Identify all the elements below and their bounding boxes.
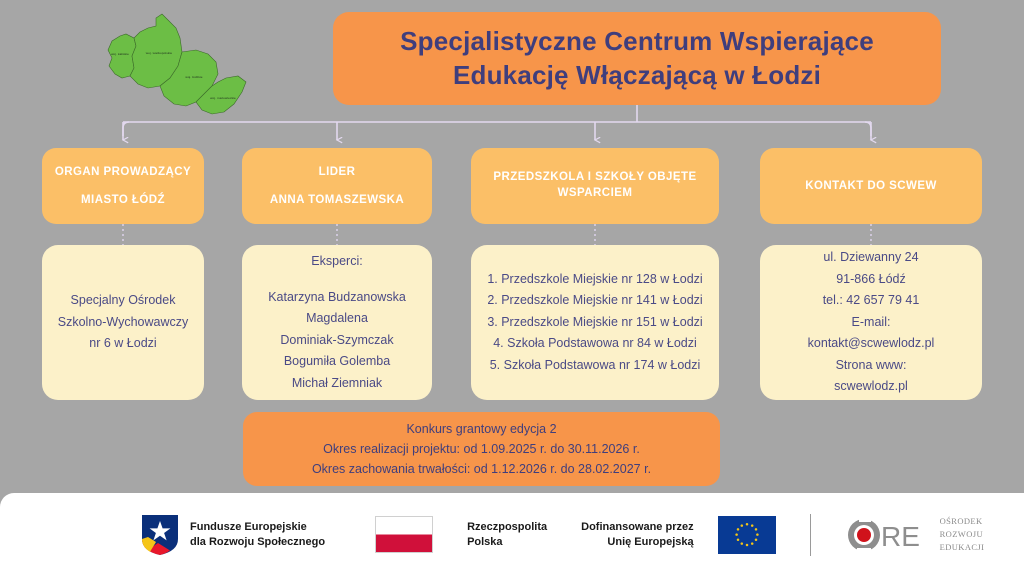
card-3-item-0: 1. Przedszkole Miejskie nr 128 w Łodzi — [487, 269, 702, 291]
ore-subtitle-text: Ośrodek Rozwoju Edukacji — [940, 515, 985, 553]
card-eksperci: Eksperci: Katarzyna Budzanowska Magdalen… — [242, 245, 432, 400]
card-2-line-1: Magdalena — [306, 308, 368, 330]
ore-mark-icon: RE — [845, 515, 929, 555]
header-organ-prowadzacy[interactable]: ORGAN PROWADZĄCY MIASTO ŁÓDŹ — [42, 148, 204, 224]
contact-website-value[interactable]: scwewlodz.pl — [834, 376, 908, 398]
card-2-line-4: Michał Ziemniak — [292, 373, 382, 395]
fe-line-1: Fundusze Europejskie — [190, 520, 325, 535]
page-title: Specjalistyczne Centrum Wspierające Eduk… — [333, 12, 941, 105]
infographic-root: woj. kaliskie woj. wielkopolskie woj. łó… — [0, 0, 1024, 576]
cof-line-2: Unię Europejską — [581, 535, 693, 550]
page-title-line-1: Specjalistyczne Centrum Wspierające — [400, 26, 874, 56]
contact-street: ul. Dziewanny 24 — [823, 247, 918, 269]
contact-email-label: E-mail: — [852, 312, 891, 334]
ore-line-3: Edukacji — [940, 541, 985, 554]
footer-divider — [810, 514, 811, 556]
card-2-line-3: Bogumiła Golemba — [284, 351, 390, 373]
grant-project-period: Okres realizacji projektu: od 1.09.2025 … — [323, 439, 640, 459]
card-organ-prowadzacy: Specjalny Ośrodek Szkolno-Wychowawczy nr… — [42, 245, 204, 400]
card-szkoly-lista: 1. Przedszkole Miejskie nr 128 w Łodzi 2… — [471, 245, 719, 400]
card-3-item-1: 2. Przedszkole Miejskie nr 141 w Łodzi — [487, 290, 702, 312]
card-3-item-3: 4. Szkoła Podstawowa nr 84 w Łodzi — [493, 333, 697, 355]
contact-website-label: Strona www: — [836, 355, 907, 377]
grant-sustainability-period: Okres zachowania trwałości: od 1.12.2026… — [312, 459, 651, 479]
contact-email-value[interactable]: kontakt@scwewlodz.pl — [808, 333, 935, 355]
header-1-line-2: MIASTO ŁÓDŹ — [81, 192, 165, 209]
card-2-line-2: Dominiak-Szymczak — [280, 330, 393, 352]
card-1-line-0: Specjalny Ośrodek — [71, 290, 176, 312]
svg-text:RE: RE — [881, 521, 920, 552]
rp-line-2: Polska — [467, 535, 547, 550]
contact-phone: tel.: 42 657 79 41 — [823, 290, 920, 312]
header-lider[interactable]: LIDER ANNA TOMASZEWSKA — [242, 148, 432, 224]
cof-line-1: Dofinansowane przez — [581, 520, 693, 535]
ore-line-1: Ośrodek — [940, 515, 985, 528]
page-title-line-2: Edukację Włączającą w Łodzi — [453, 60, 821, 90]
rp-line-1: Rzeczpospolita — [467, 520, 547, 535]
contact-postal-city: 91-866 Łódź — [836, 269, 906, 291]
polish-flag-icon — [375, 516, 433, 553]
card-kontakt: ul. Dziewanny 24 91-866 Łódź tel.: 42 65… — [760, 245, 982, 400]
card-3-item-4: 5. Szkoła Podstawowa nr 174 w Łodzi — [490, 355, 701, 377]
header-przedszkola-i-szkoly[interactable]: PRZEDSZKOLA I SZKOŁY OBJĘTE WSPARCIEM — [471, 148, 719, 224]
header-2-line-1: LIDER — [319, 164, 356, 181]
header-3-line-1: PRZEDSZKOLA I SZKOŁY OBJĘTE — [493, 170, 696, 186]
header-3-line-2: WSPARCIEM — [558, 186, 633, 202]
fe-line-2: dla Rozwoju Społecznego — [190, 535, 325, 550]
map-label-0: woj. kaliskie — [111, 52, 129, 56]
ore-line-2: Rozwoju — [940, 528, 985, 541]
fundusze-europejskie-text: Fundusze Europejskie dla Rozwoju Społecz… — [190, 520, 325, 550]
card-3-item-2: 3. Przedszkole Miejskie nr 151 w Łodzi — [487, 312, 702, 334]
header-2-line-2: ANNA TOMASZEWSKA — [270, 192, 404, 209]
card-1-line-2: nr 6 w Łodzi — [89, 333, 156, 355]
region-map: woj. kaliskie woj. wielkopolskie woj. łó… — [82, 8, 272, 120]
card-2-heading: Eksperci: — [311, 251, 362, 273]
header-4-line-1: KONTAKT DO SCWEW — [805, 178, 937, 195]
card-1-line-1: Szkolno-Wychowawczy — [58, 312, 188, 334]
dofinansowane-text: Dofinansowane przez Unię Europejską — [581, 520, 693, 550]
map-label-3: woj. mazowieckie — [210, 96, 236, 100]
fundusze-europejskie-icon — [140, 513, 180, 557]
grant-info-banner: Konkurs grantowy edycja 2 Okres realizac… — [243, 412, 720, 486]
logo-ore: RE Ośrodek Rozwoju Edukacji — [845, 515, 985, 555]
footer-logo-bar: Fundusze Europejskie dla Rozwoju Społecz… — [0, 493, 1024, 576]
card-2-line-0: Katarzyna Budzanowska — [268, 287, 406, 309]
logo-fundusze-europejskie: Fundusze Europejskie dla Rozwoju Społecz… — [140, 513, 325, 557]
header-1-line-1: ORGAN PROWADZĄCY — [55, 164, 191, 181]
eu-flag-icon — [718, 516, 776, 554]
header-kontakt-do-scwew[interactable]: KONTAKT DO SCWEW — [760, 148, 982, 224]
map-label-2: woj. łódzkie — [185, 75, 202, 79]
grant-edition: Konkurs grantowy edycja 2 — [406, 419, 556, 439]
rzeczpospolita-polska-text: Rzeczpospolita Polska — [467, 520, 547, 550]
map-label-1: woj. wielkopolskie — [146, 51, 173, 55]
